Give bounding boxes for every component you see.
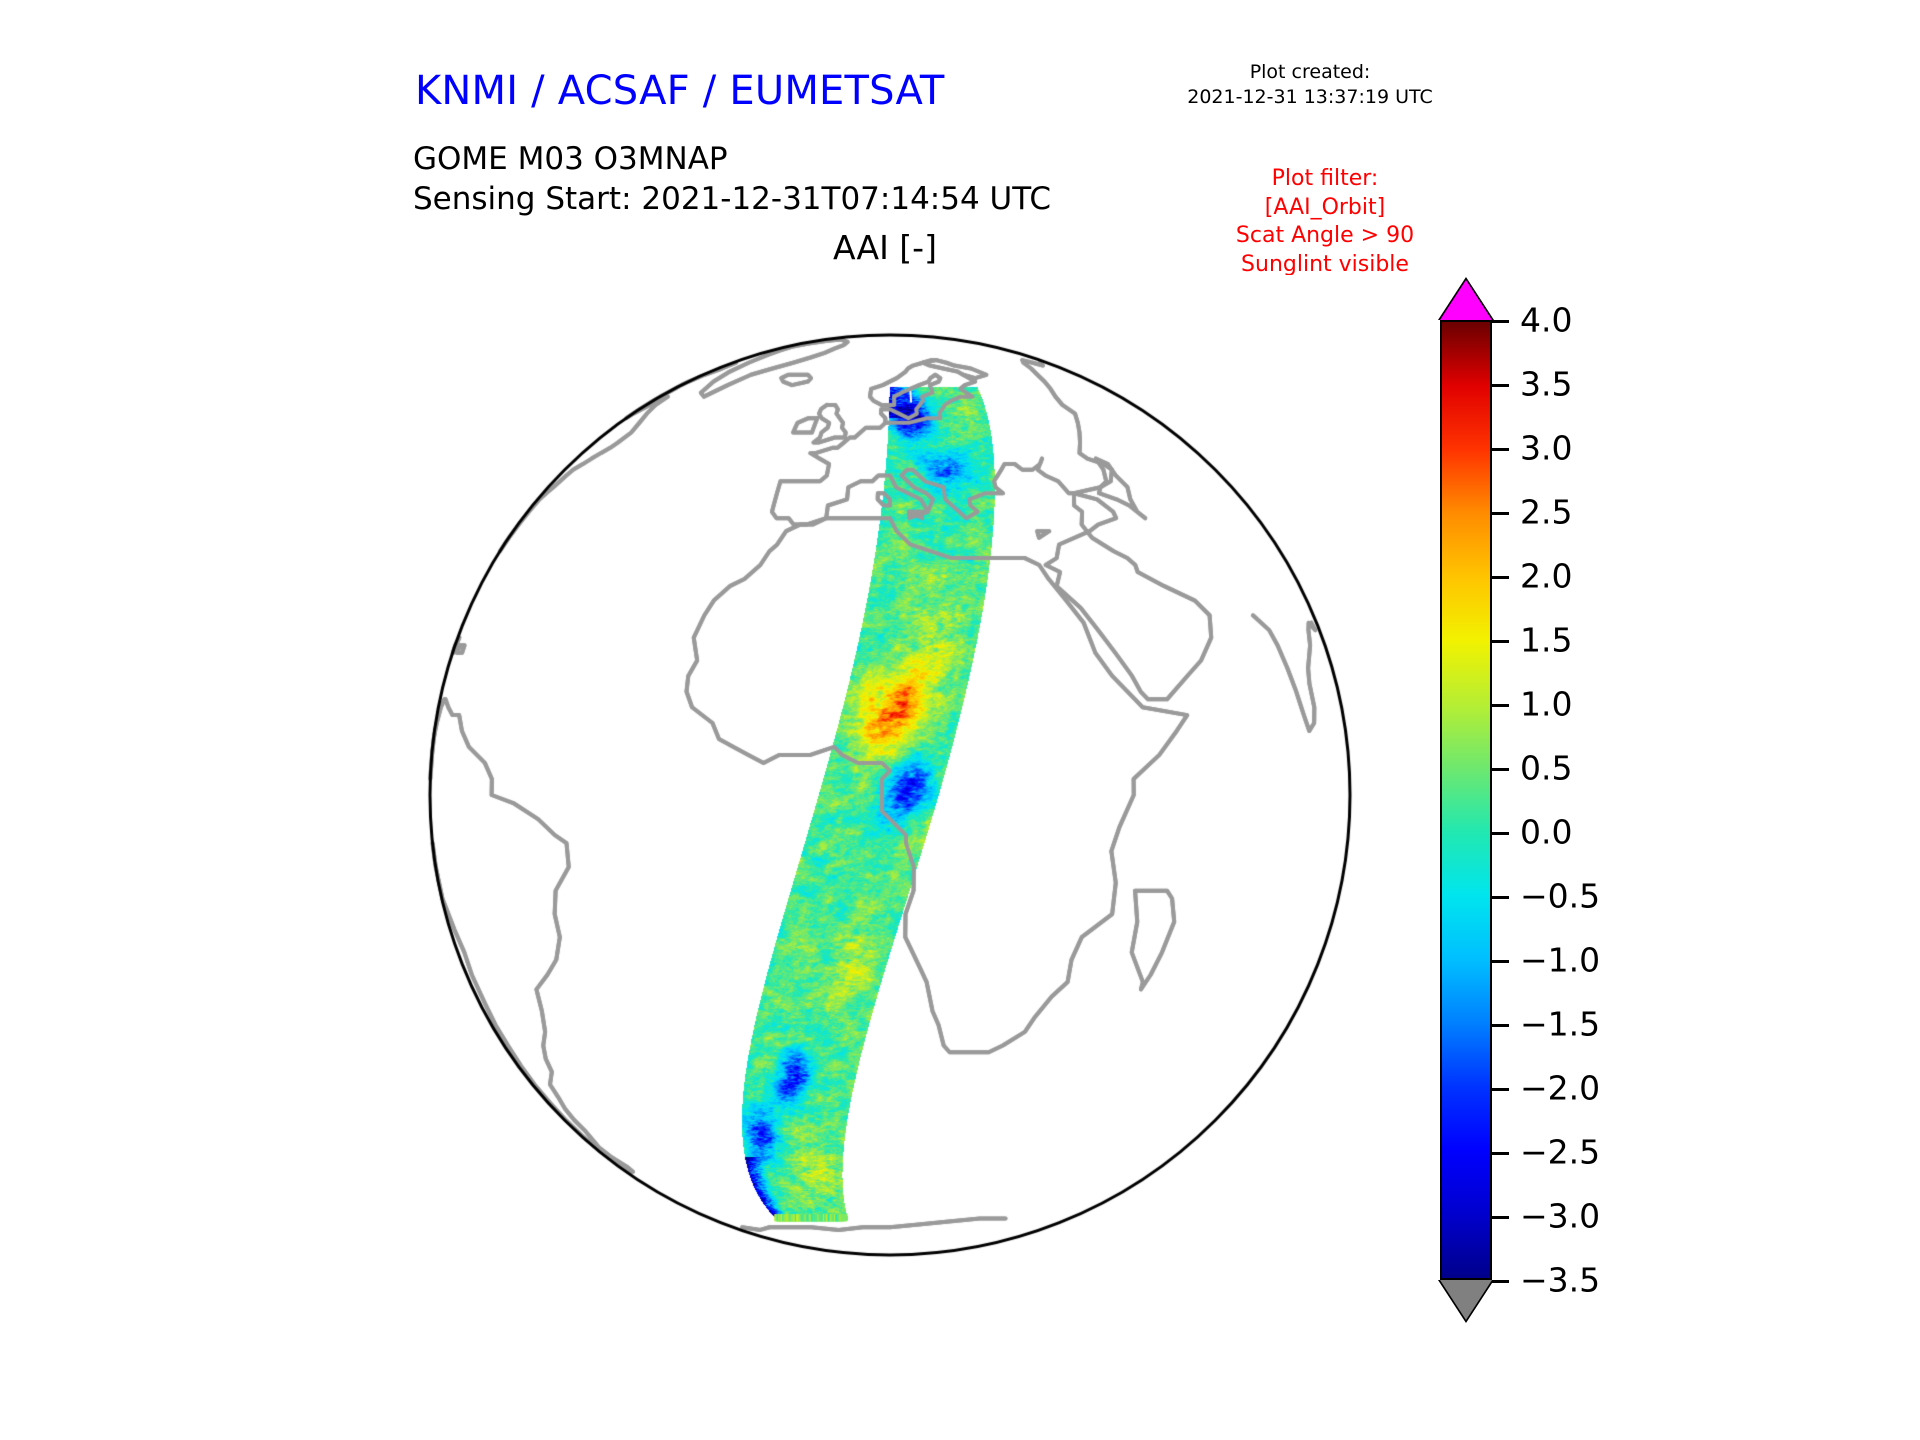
colorbar-tick-label: −2.5 xyxy=(1520,1133,1600,1172)
colorbar-tick xyxy=(1492,1024,1509,1027)
colorbar-tick xyxy=(1492,512,1509,515)
orthographic-globe-canvas xyxy=(370,275,1410,1315)
product-info-block: GOME M03 O3MNAP Sensing Start: 2021-12-3… xyxy=(413,140,1051,219)
colorbar-tick xyxy=(1492,384,1509,387)
organization-title: KNMI / ACSAF / EUMETSAT xyxy=(415,68,945,114)
colorbar-over-range-arrow xyxy=(1440,280,1492,320)
colorbar-tick-label: −0.5 xyxy=(1520,877,1600,916)
colorbar-tick xyxy=(1492,1280,1509,1283)
colorbar-tick-label: 3.0 xyxy=(1520,429,1572,468)
colorbar-tick-label: −1.5 xyxy=(1520,1005,1600,1044)
colorbar-tick-label: 3.5 xyxy=(1520,365,1572,404)
plot-filter-name: [AAI_Orbit] xyxy=(1180,194,1470,223)
colorbar-tick-label: 2.0 xyxy=(1520,557,1572,596)
plot-filter-block: Plot filter: [AAI_Orbit] Scat Angle > 90… xyxy=(1180,165,1470,279)
colorbar-tick xyxy=(1492,1152,1509,1155)
colorbar-tick-label: 0.0 xyxy=(1520,813,1572,852)
colorbar-tick xyxy=(1492,640,1509,643)
colorbar-tick xyxy=(1492,448,1509,451)
colorbar-tick-label: −2.0 xyxy=(1520,1069,1600,1108)
colorbar-tick xyxy=(1492,576,1509,579)
colorbar-tick xyxy=(1492,896,1509,899)
sensing-start: Sensing Start: 2021-12-31T07:14:54 UTC xyxy=(413,180,1051,220)
plot-created-label: Plot created: xyxy=(1160,60,1460,85)
colorbar-tick-label: 0.5 xyxy=(1520,749,1572,788)
colorbar-tick xyxy=(1492,960,1509,963)
plot-created-timestamp: 2021-12-31 13:37:19 UTC xyxy=(1160,85,1460,110)
colorbar-tick-label: −3.5 xyxy=(1520,1261,1600,1300)
colorbar-tick xyxy=(1492,704,1509,707)
colorbar: 4.03.53.02.52.01.51.00.50.0−0.5−1.0−1.5−… xyxy=(1440,280,1770,1340)
colorbar-tick xyxy=(1492,832,1509,835)
plot-created-block: Plot created: 2021-12-31 13:37:19 UTC xyxy=(1160,60,1460,109)
colorbar-tick-label: 2.5 xyxy=(1520,493,1572,532)
colorbar-tick xyxy=(1492,768,1509,771)
colorbar-tick-label: −1.0 xyxy=(1520,941,1600,980)
colorbar-under-range-arrow xyxy=(1440,1280,1492,1320)
colorbar-tick-label: 4.0 xyxy=(1520,301,1572,340)
colorbar-tick xyxy=(1492,1088,1509,1091)
product-name: GOME M03 O3MNAP xyxy=(413,140,1051,180)
colorbar-tick xyxy=(1492,1216,1509,1219)
colorbar-gradient xyxy=(1440,320,1492,1280)
plot-filter-label: Plot filter: xyxy=(1180,165,1470,194)
colorbar-tick-label: −3.0 xyxy=(1520,1197,1600,1236)
colorbar-tick-label: 1.5 xyxy=(1520,621,1572,660)
plot-filter-scat-angle: Scat Angle > 90 xyxy=(1180,222,1470,251)
colorbar-tick xyxy=(1492,320,1509,323)
globe-map xyxy=(370,275,1410,1315)
colorbar-tick-label: 1.0 xyxy=(1520,685,1572,724)
page-title: AAI [-] xyxy=(690,228,1080,267)
